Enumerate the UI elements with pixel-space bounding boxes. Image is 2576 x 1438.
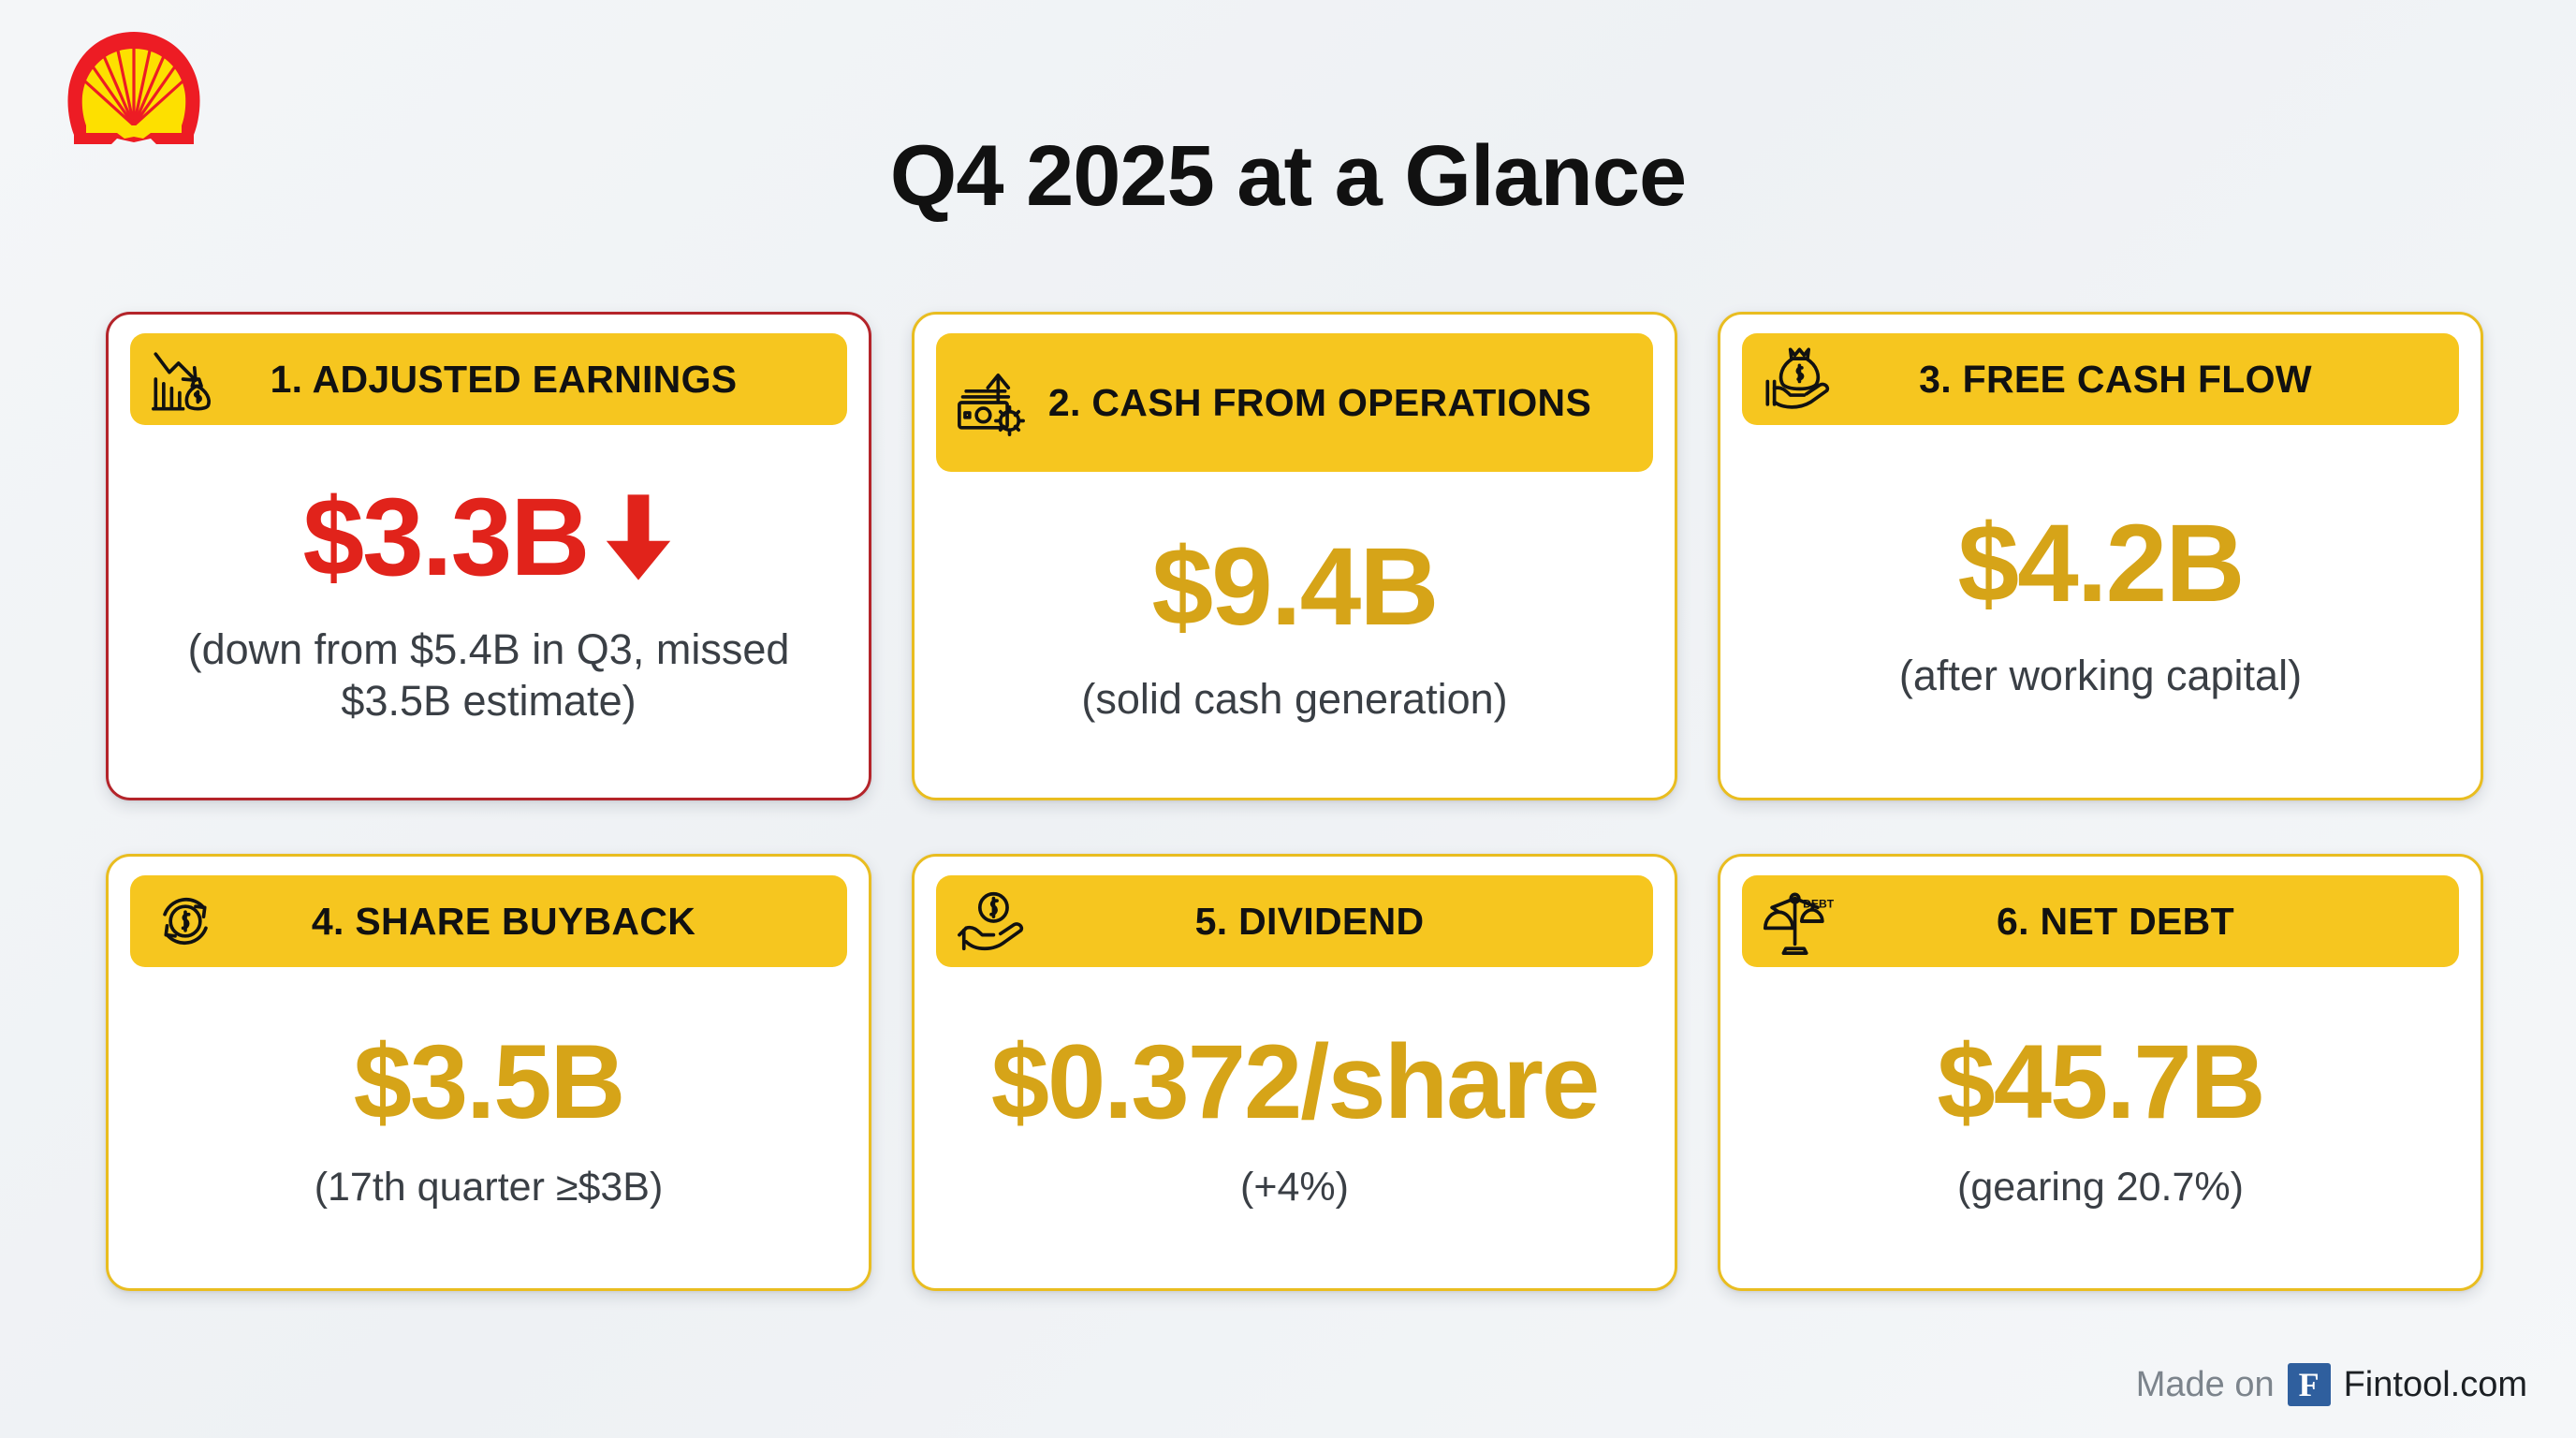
- card-title: 2. CASH FROM OPERATIONS: [1032, 380, 1640, 425]
- card-header: 2. CASH FROM OPERATIONS: [936, 333, 1653, 472]
- metric-note: (solid cash generation): [1081, 674, 1507, 726]
- metrics-grid: 1. ADJUSTED EARNINGS $3.3B (down from $5…: [106, 312, 2483, 1291]
- hand-coin-icon: [951, 881, 1032, 961]
- metric-card-free-cash-flow[interactable]: 3. FREE CASH FLOW $4.2B (after working c…: [1718, 312, 2483, 800]
- footer-attribution: Made on F Fintool.com: [2136, 1363, 2527, 1406]
- declining-bar-chart-money-bag-icon: [145, 339, 226, 419]
- metric-card-cash-from-operations[interactable]: 2. CASH FROM OPERATIONS $9.4B (solid cas…: [912, 312, 1677, 800]
- card-body: $0.372/share (+4%): [915, 967, 1675, 1288]
- card-header: 5. DIVIDEND: [936, 875, 1653, 967]
- card-title: 5. DIVIDEND: [1032, 899, 1640, 944]
- card-title: 6. NET DEBT: [1837, 899, 2446, 944]
- metric-card-net-debt[interactable]: DEBT 6. NET DEBT $45.7B (gearing 20.7%): [1718, 854, 2483, 1291]
- circular-arrows-dollar-icon: [145, 881, 226, 961]
- metric-note: (down from $5.4B in Q3, missed $3.5B est…: [161, 624, 816, 727]
- metric-note: (gearing 20.7%): [1957, 1163, 2244, 1211]
- metric-value: $3.3B: [303, 482, 589, 593]
- card-body: $4.2B (after working capital): [1720, 425, 2481, 798]
- card-title: 1. ADJUSTED EARNINGS: [226, 357, 834, 402]
- metric-card-adjusted-earnings[interactable]: 1. ADJUSTED EARNINGS $3.3B (down from $5…: [106, 312, 871, 800]
- card-title: 4. SHARE BUYBACK: [226, 899, 834, 944]
- metric-value: $45.7B: [1937, 1030, 2263, 1135]
- metric-value: $3.5B: [354, 1030, 624, 1135]
- cash-gear-up-arrow-icon: [951, 362, 1032, 443]
- svg-text:DEBT: DEBT: [1803, 897, 1834, 910]
- card-header: 3. FREE CASH FLOW: [1742, 333, 2459, 425]
- page-title: Q4 2025 at a Glance: [0, 131, 2576, 222]
- card-header: 4. SHARE BUYBACK: [130, 875, 847, 967]
- metric-value-wrap: $3.5B: [354, 1030, 624, 1135]
- metrics-row-bottom: 4. SHARE BUYBACK $3.5B (17th quarter ≥$3…: [106, 854, 2483, 1291]
- arrow-down-icon: [603, 494, 674, 580]
- metric-value-wrap: $3.3B: [303, 482, 675, 593]
- metric-note: (after working capital): [1899, 651, 2302, 702]
- metric-value-wrap: $45.7B: [1937, 1030, 2263, 1135]
- card-body: $3.5B (17th quarter ≥$3B): [109, 967, 869, 1288]
- fintool-brand-name: Fintool.com: [2344, 1367, 2527, 1402]
- card-header: DEBT 6. NET DEBT: [1742, 875, 2459, 967]
- card-header: 1. ADJUSTED EARNINGS: [130, 333, 847, 425]
- metric-value-wrap: $4.2B: [1958, 508, 2244, 619]
- metric-value-wrap: $0.372/share: [991, 1030, 1599, 1135]
- metric-value: $0.372/share: [991, 1030, 1599, 1135]
- metric-note: (+4%): [1240, 1163, 1349, 1211]
- card-body: $45.7B (gearing 20.7%): [1720, 967, 2481, 1288]
- metrics-row-top: 1. ADJUSTED EARNINGS $3.3B (down from $5…: [106, 312, 2483, 800]
- metric-card-share-buyback[interactable]: 4. SHARE BUYBACK $3.5B (17th quarter ≥$3…: [106, 854, 871, 1291]
- infographic-page: Q4 2025 at a Glance: [0, 0, 2576, 1438]
- card-title: 3. FREE CASH FLOW: [1837, 357, 2446, 402]
- metric-value: $4.2B: [1958, 508, 2244, 619]
- metric-value: $9.4B: [1152, 532, 1438, 642]
- metric-note: (17th quarter ≥$3B): [315, 1163, 664, 1211]
- hand-money-bag-icon: [1757, 339, 1837, 419]
- made-on-label: Made on: [2136, 1367, 2275, 1402]
- card-body: $3.3B (down from $5.4B in Q3, missed $3.…: [109, 425, 869, 798]
- metric-card-dividend[interactable]: 5. DIVIDEND $0.372/share (+4%): [912, 854, 1677, 1291]
- metric-value-wrap: $9.4B: [1152, 532, 1438, 642]
- card-body: $9.4B (solid cash generation): [915, 472, 1675, 798]
- balance-scale-debt-icon: DEBT: [1757, 881, 1837, 961]
- fintool-logo-icon: F: [2288, 1363, 2331, 1406]
